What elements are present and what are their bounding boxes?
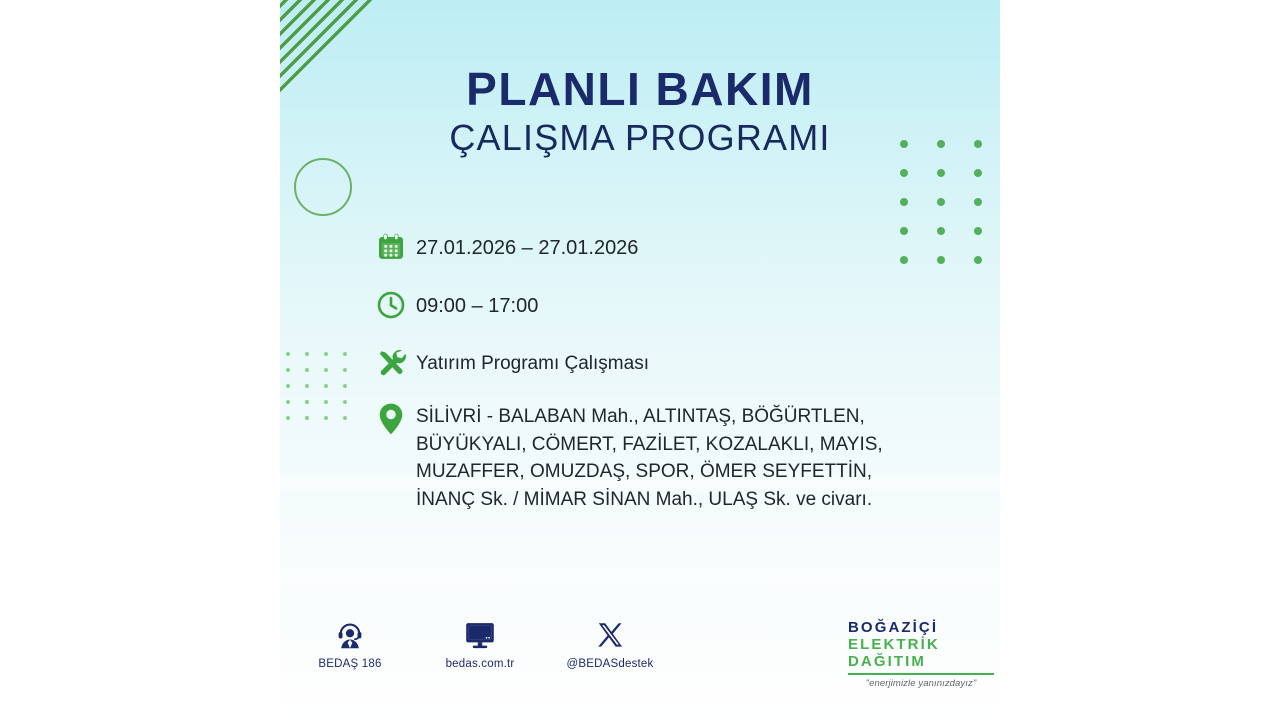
tools-icon xyxy=(376,344,416,382)
call-center-agent-icon xyxy=(335,618,365,652)
brand-line-bogazici: BOĞAZİÇİ xyxy=(848,620,998,637)
calendar-icon xyxy=(376,228,416,266)
info-row-date: 27.01.2026 – 27.01.2026 xyxy=(376,228,976,266)
contact-phone-label: BEDAŞ 186 xyxy=(318,658,381,670)
location-pin-icon xyxy=(376,400,416,438)
brand-tagline: "enerjimizle yanınızdayız" xyxy=(848,678,994,689)
clock-icon xyxy=(376,286,416,324)
info-row-time: 09:00 – 17:00 xyxy=(376,286,976,324)
poster-heading-block: PLANLI BAKIM ÇALIŞMA PROGRAMI xyxy=(280,66,1000,157)
bedas-logo: BOĞAZİÇİ ELEKTRİK DAĞITIM "enerjimizle y… xyxy=(848,620,998,689)
x-twitter-icon xyxy=(596,618,624,652)
location-value: SİLİVRİ - BALABAN Mah., ALTINTAŞ, BÖĞÜRT… xyxy=(416,400,883,514)
contact-phone[interactable]: BEDAŞ 186 xyxy=(302,618,398,670)
background-sheen-band-2 xyxy=(280,560,1000,594)
time-value: 09:00 – 17:00 xyxy=(416,286,538,321)
contact-channels: BEDAŞ 186 bedas.co xyxy=(302,618,658,670)
contact-x-label: @BEDASdestek xyxy=(567,658,654,670)
poster-footer: BEDAŞ 186 bedas.co xyxy=(280,618,1000,704)
brand-line-dagitim: DAĞITIM xyxy=(848,654,998,671)
planned-maintenance-poster: PLANLI BAKIM ÇALIŞMA PROGRAMI xyxy=(280,0,1000,720)
maintenance-info-list: 27.01.2026 – 27.01.2026 09:00 – 17:00 xyxy=(376,228,976,514)
page-title: PLANLI BAKIM xyxy=(280,66,1000,114)
contact-x-twitter[interactable]: @BEDASdestek xyxy=(562,618,658,670)
worktype-value: Yatırım Programı Çalışması xyxy=(416,344,649,378)
dot-grid-decoration-left xyxy=(286,352,362,432)
info-row-location: SİLİVRİ - BALABAN Mah., ALTINTAŞ, BÖĞÜRT… xyxy=(376,400,976,514)
info-row-worktype: Yatırım Programı Çalışması xyxy=(376,344,976,382)
brand-line-elektrik: ELEKTRİK xyxy=(848,637,998,654)
brand-divider xyxy=(848,673,994,675)
monitor-icon xyxy=(464,618,496,652)
date-value: 27.01.2026 – 27.01.2026 xyxy=(416,228,638,263)
page-subtitle: ÇALIŞMA PROGRAMI xyxy=(280,118,1000,158)
contact-website[interactable]: bedas.com.tr xyxy=(432,618,528,670)
circle-outline-decoration xyxy=(294,158,352,216)
contact-website-label: bedas.com.tr xyxy=(446,658,515,670)
screenshot-canvas: PLANLI BAKIM ÇALIŞMA PROGRAMI xyxy=(0,0,1280,720)
